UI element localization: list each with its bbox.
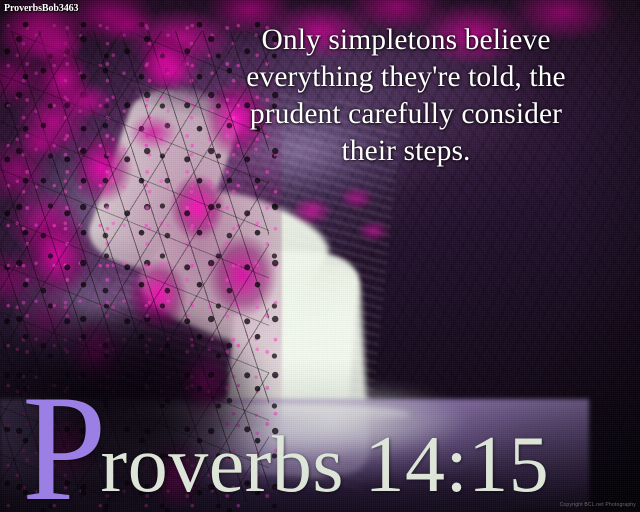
scripture-quote-text: Only simpletons believe everything they'… <box>196 22 616 170</box>
scripture-reference: P roverbs 14:15 <box>22 379 549 510</box>
artist-watermark: ProverbsBob3463 <box>4 3 78 14</box>
reference-body-text: roverbs 14:15 <box>101 425 550 505</box>
photo-credit: Copyright BCL.net Photography <box>560 502 636 508</box>
quote-line-4: their steps. <box>196 133 616 170</box>
scripture-poster: ProverbsBob3463 Only simpletons believe … <box>0 0 640 512</box>
quote-line-3: prudent carefully consider <box>196 96 616 133</box>
reference-drop-cap: P <box>22 383 107 512</box>
quote-line-1: Only simpletons believe <box>196 22 616 59</box>
quote-line-2: everything they're told, the <box>196 59 616 96</box>
